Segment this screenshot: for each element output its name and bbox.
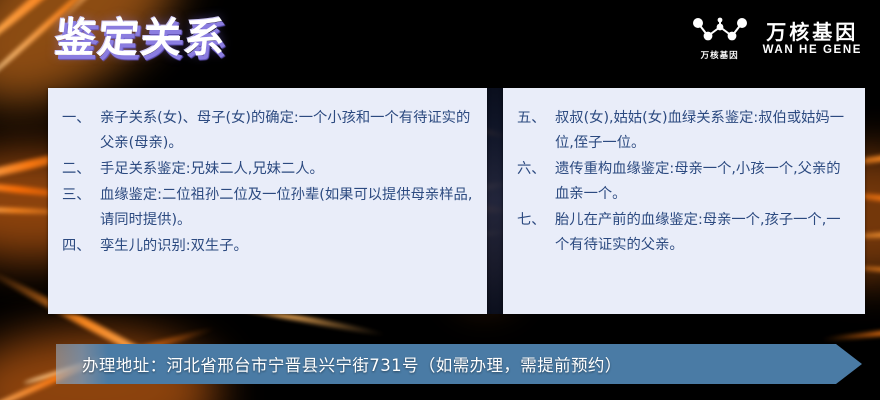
content-panel-left: 一、 亲子关系(女)、母子(女)的确定:一个小孩和一个有待证实的父亲(母亲)。 … — [48, 88, 487, 314]
slide-root: 鉴定关系 万核基因 万核基因 WAN HE GENE — [0, 0, 880, 400]
list-item-text: 血缘鉴定:二位祖孙二位及一位孙辈(如果可以提供母亲样品,请同时提供)。 — [100, 183, 475, 233]
brand-name-cn: 万核基因 — [766, 21, 858, 43]
haze-left-gap — [487, 88, 503, 314]
list-item: 四、 孪生儿的识别:双生子。 — [62, 234, 475, 259]
list-item-number: 五、 — [517, 106, 555, 131]
list-item: 三、 血缘鉴定:二位祖孙二位及一位孙辈(如果可以提供母亲样品,请同时提供)。 — [62, 183, 475, 233]
list-item-number: 六、 — [517, 157, 555, 182]
list-item-text: 手足关系鉴定:兄妹二人,兄妹二人。 — [100, 157, 475, 182]
list-item: 五、 叔叔(女),姑姑(女)血绿关系鉴定:叔伯或姑妈一位,侄子一位。 — [517, 106, 853, 156]
brand-name-en: WAN HE GENE — [763, 44, 862, 57]
address-banner: 办理地址：河北省邢台市宁晋县兴宁街731号（如需办理，需提前预约） — [56, 344, 862, 384]
list-item-number: 七、 — [517, 208, 555, 233]
list-item: 七、 胎儿在产前的血缘鉴定:母亲一个,孩子一个,一个有待证实的父亲。 — [517, 208, 853, 258]
list-item-text: 胎儿在产前的血缘鉴定:母亲一个,孩子一个,一个有待证实的父亲。 — [555, 208, 853, 258]
panel-left-inner: 一、 亲子关系(女)、母子(女)的确定:一个小孩和一个有待证实的父亲(母亲)。 … — [48, 88, 487, 314]
content-panel-right: 五、 叔叔(女),姑姑(女)血绿关系鉴定:叔伯或姑妈一位,侄子一位。 六、 遗传… — [503, 88, 865, 314]
page-title: 鉴定关系 — [52, 14, 229, 62]
list-item: 一、 亲子关系(女)、母子(女)的确定:一个小孩和一个有待证实的父亲(母亲)。 — [62, 106, 475, 156]
logo-mark: 万核基因 — [691, 17, 749, 61]
list-item-number: 三、 — [62, 183, 100, 208]
molecule-network-icon — [691, 17, 749, 47]
list-item-number: 二、 — [62, 157, 100, 182]
list-item-text: 孪生儿的识别:双生子。 — [100, 234, 475, 259]
list-item-text: 遗传重构血缘鉴定:母亲一个,小孩一个,父亲的血亲一个。 — [555, 157, 853, 207]
list-item: 二、 手足关系鉴定:兄妹二人,兄妹二人。 — [62, 157, 475, 182]
banner-text: 办理地址：河北省邢台市宁晋县兴宁街731号（如需办理，需提前预约） — [82, 344, 622, 384]
streak-right-5 — [820, 323, 880, 343]
list-item-text: 叔叔(女),姑姑(女)血绿关系鉴定:叔伯或姑妈一位,侄子一位。 — [555, 106, 853, 156]
list-item: 六、 遗传重构血缘鉴定:母亲一个,小孩一个,父亲的血亲一个。 — [517, 157, 853, 207]
brand-logo: 万核基因 万核基因 WAN HE GENE — [691, 17, 862, 61]
brand-wordmark: 万核基因 WAN HE GENE — [763, 21, 862, 57]
list-item-text: 亲子关系(女)、母子(女)的确定:一个小孩和一个有待证实的父亲(母亲)。 — [100, 106, 475, 156]
panel-right-inner: 五、 叔叔(女),姑姑(女)血绿关系鉴定:叔伯或姑妈一位,侄子一位。 六、 遗传… — [503, 88, 865, 314]
logo-mark-label: 万核基因 — [701, 49, 739, 61]
list-item-number: 一、 — [62, 106, 100, 131]
list-item-number: 四、 — [62, 234, 100, 259]
